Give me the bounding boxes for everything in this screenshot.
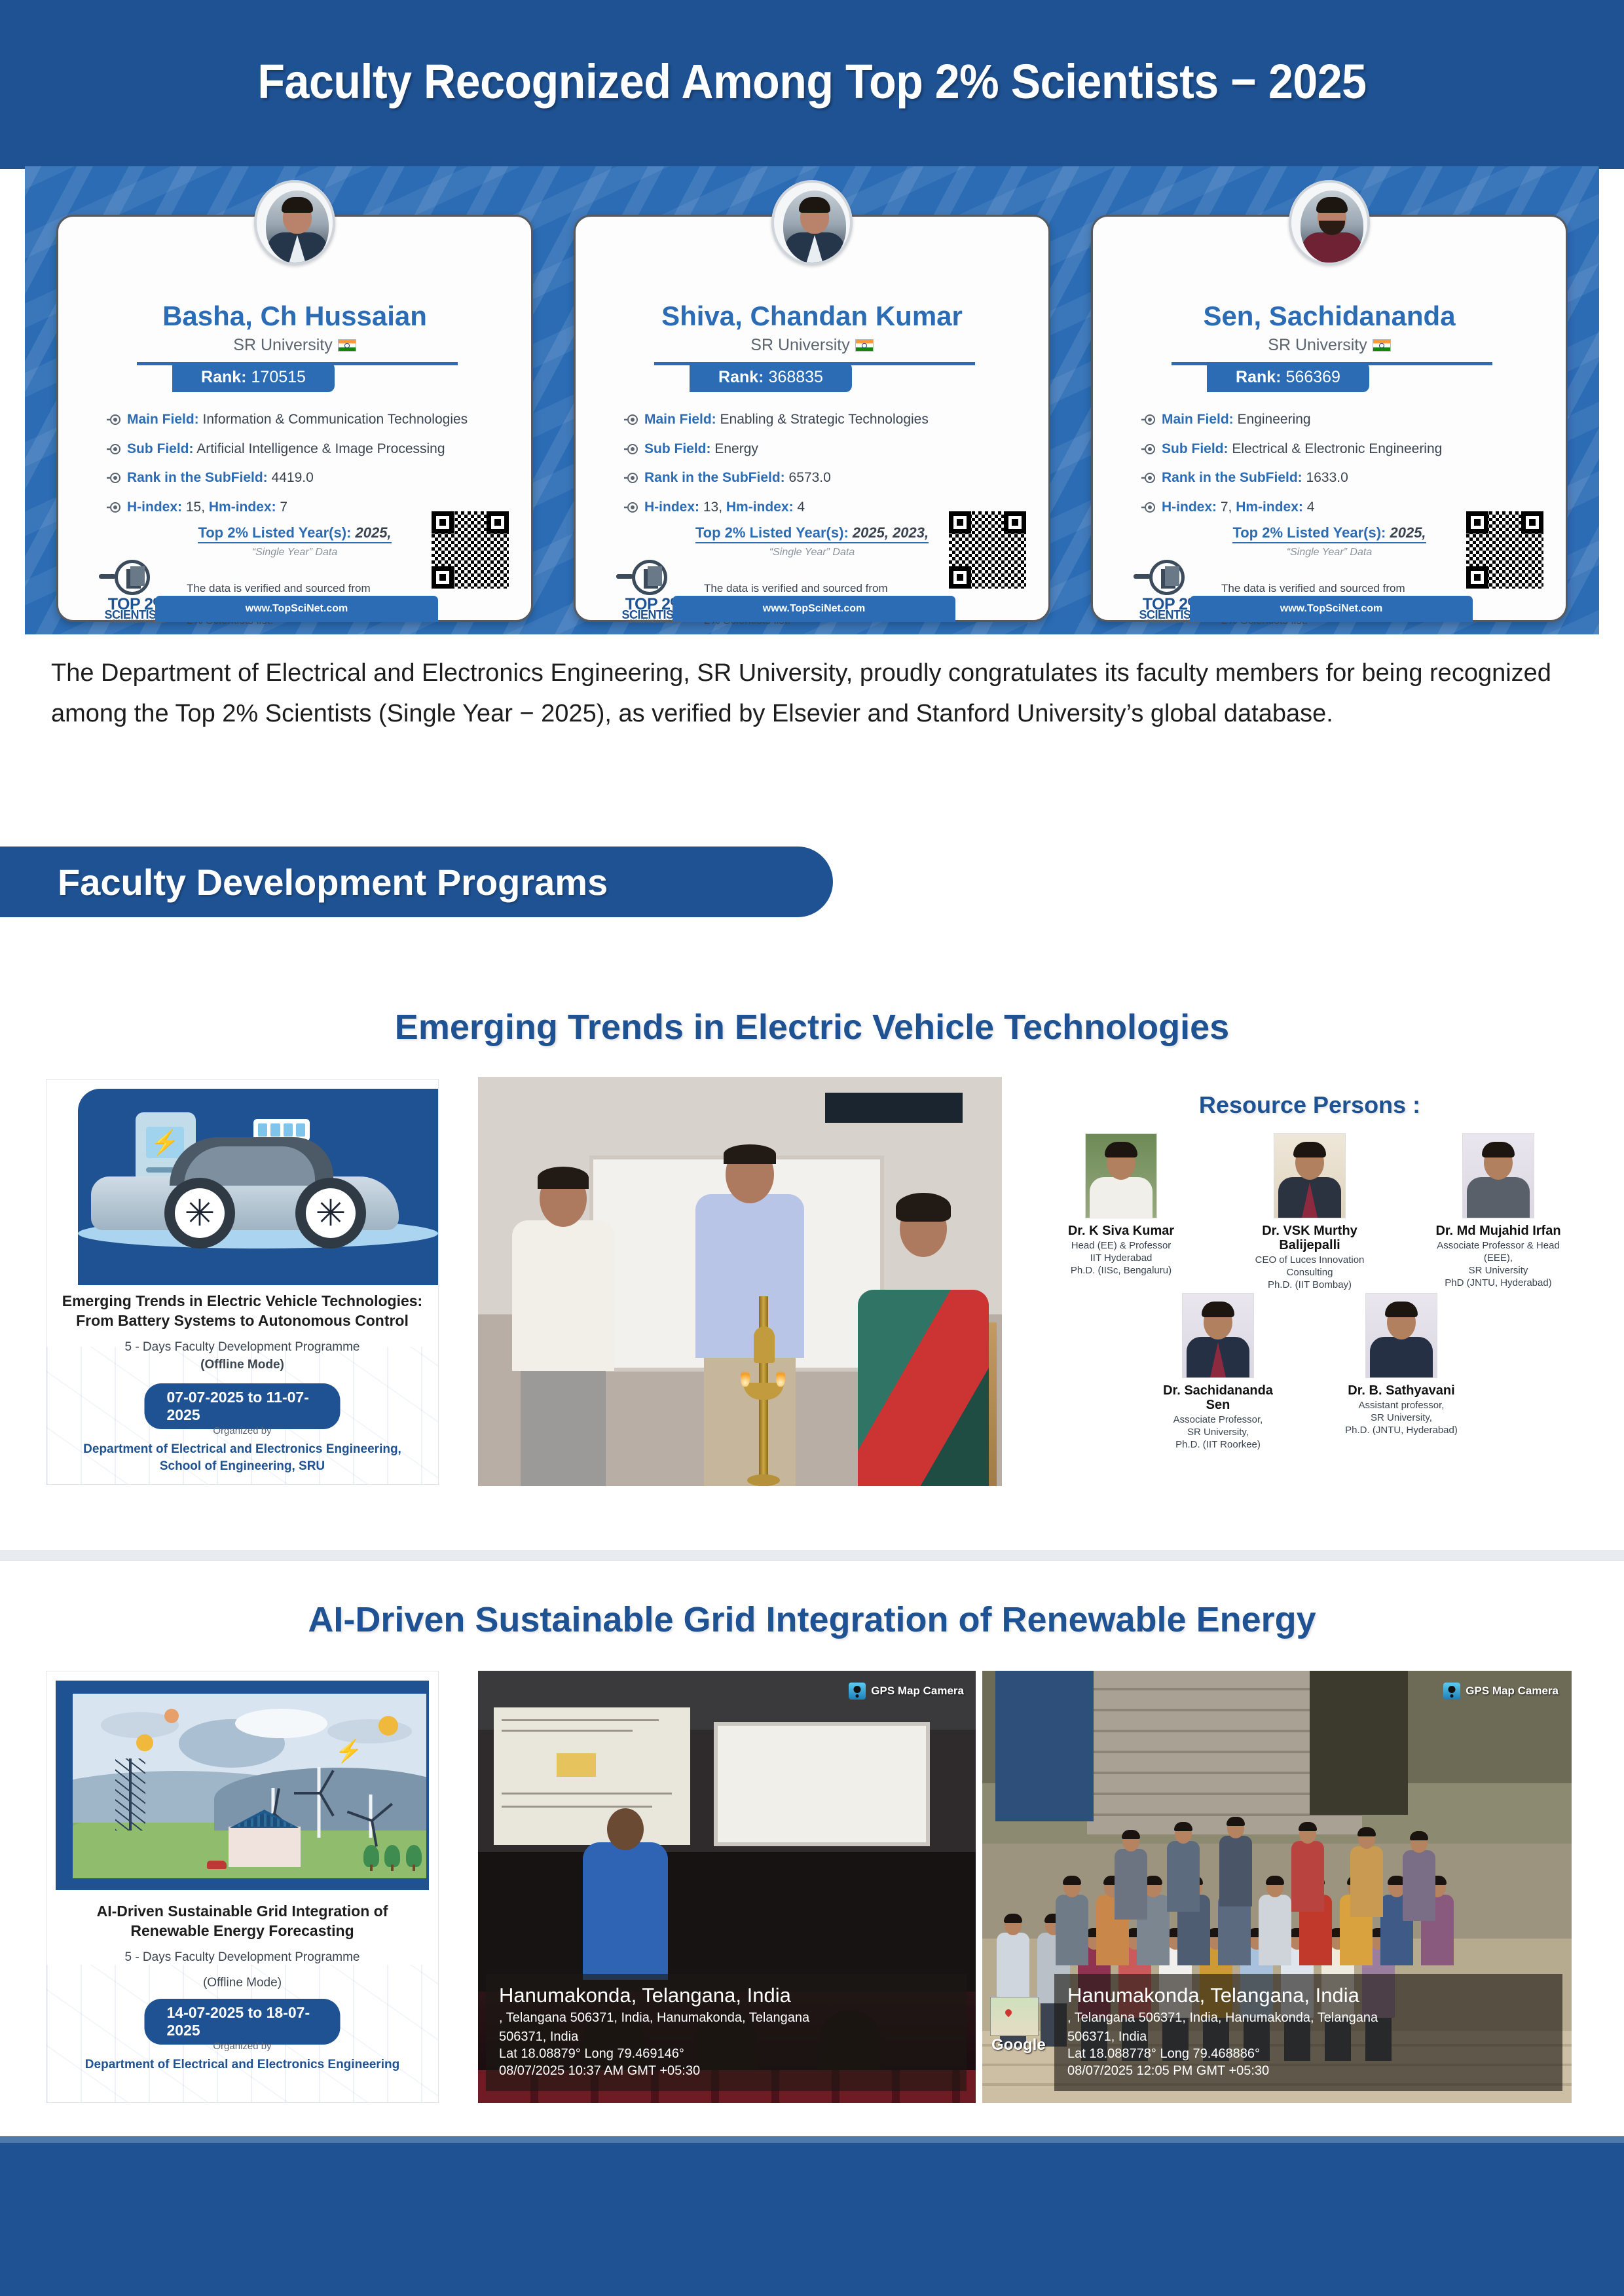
hmindex-value: 7 [280, 500, 287, 515]
resource-person-name: Dr. K Siva Kumar [1052, 1224, 1190, 1238]
poster-page: Faculty Recognized Among Top 2% Scientis… [0, 0, 1624, 2296]
gps-city: Hanumakonda, Telangana, India [499, 1984, 953, 2007]
resource-person-card: Dr. VSK Murthy Balijepalli CEO of Luces … [1241, 1133, 1378, 1292]
main-field-value: Information & Communication Technologies [203, 412, 468, 427]
subfield-rank-value: 4419.0 [272, 470, 314, 485]
subfield-rank-value: 6573.0 [789, 470, 831, 485]
rank-label: Rank: [201, 368, 246, 387]
gps-app-badge: GPS Map Camera [1443, 1683, 1559, 1700]
resource-person-name: Dr. B. Sathyavani [1333, 1383, 1470, 1398]
gps-map-camera-icon [1443, 1683, 1460, 1700]
resource-person-affiliation: SR University [1430, 1265, 1567, 1277]
gps-coordinates: Lat 18.08879° Long 79.469146° [499, 2045, 953, 2062]
scientist-university: SR University [58, 336, 531, 355]
certificate-website[interactable]: www.TopSciNet.com [155, 596, 438, 622]
subfield-rank-value: 1633.0 [1306, 470, 1348, 485]
scientist-name: Shiva, Chandan Kumar [576, 301, 1048, 332]
resource-person-card: Dr. B. Sathyavani Assistant professor, S… [1333, 1293, 1470, 1451]
field-row-sub: Sub Field: Artificial Intelligence & Ima… [107, 441, 500, 457]
poster-duration: 5 - Days Faculty Development Programme [57, 1339, 428, 1357]
organizer-line1: Department of Electrical and Electronics… [57, 1441, 428, 1458]
ceremonial-lamp-icon [743, 1270, 783, 1486]
resource-person-photo [1365, 1293, 1437, 1378]
gps-overlay-panel: Hanumakonda, Telangana, India , Telangan… [1054, 1974, 1562, 2091]
verify-pre: The data is verified and sourced from [187, 582, 371, 594]
listed-years-value: 2025, [1390, 524, 1426, 541]
poster-dates-badge: 07-07-2025 to 11-07-2025 [145, 1383, 341, 1429]
poster-mode: (Offline Mode) [57, 1975, 428, 1992]
section-divider [0, 1550, 1624, 1561]
google-watermark: Google [991, 2036, 1046, 2054]
renewable-energy-illustration: ⚡ [73, 1694, 426, 1878]
india-flag-icon [338, 339, 356, 352]
program-2-session-photo: GPS Map Camera Hanumakonda, Telangana, I… [478, 1671, 976, 2103]
hindex-label: H-index: [127, 500, 182, 515]
hmindex-value: 4 [1307, 500, 1315, 515]
sub-field-value: Energy [714, 441, 758, 456]
resource-person-role: CEO of Luces Innovation Consulting [1241, 1254, 1378, 1279]
certificate-card[interactable]: Sen, Sachidananda SR University Rank: 56… [1091, 215, 1568, 622]
poster-title-line1: Emerging Trends in Electric Vehicle Tech… [57, 1292, 428, 1311]
resource-person-affiliation: SR University, [1149, 1427, 1287, 1439]
poster-title: Emerging Trends in Electric Vehicle Tech… [57, 1292, 428, 1331]
hindex-value: 15, [186, 500, 205, 515]
certificate-row: Basha, Ch Hussaian SR University Rank: 1… [25, 166, 1599, 634]
avatar [771, 180, 853, 265]
resource-person-role: Associate Professor & Head (EEE), [1430, 1240, 1567, 1265]
sub-field-label: Sub Field: [644, 441, 711, 456]
photo-person [504, 1159, 622, 1486]
poster-subtitle: 5 - Days Faculty Development Programme (… [57, 1339, 428, 1374]
main-field-value: Enabling & Strategic Technologies [720, 412, 929, 427]
target-bullet-icon [1141, 471, 1156, 485]
resource-persons-row-1: Dr. K Siva Kumar Head (EE) & Professor I… [1022, 1133, 1598, 1292]
field-row-main: Main Field: Engineering [1141, 412, 1534, 428]
ev-hero-illustration [78, 1089, 438, 1285]
resource-person-affiliation: IIT Hyderabad [1052, 1252, 1190, 1265]
avatar [1289, 180, 1370, 265]
poster-organized-by-label: Organized by [57, 2041, 428, 2052]
qr-code[interactable] [949, 511, 1026, 589]
university-label: SR University [1268, 336, 1367, 354]
poster-organizer: Department of Electrical and Electronics… [57, 1441, 428, 1474]
resource-person-card: Dr. Sachidananda Sen Associate Professor… [1149, 1293, 1287, 1451]
map-thumbnail[interactable] [990, 1997, 1039, 2036]
organizer-line1: Department of Electrical and Electronics… [57, 2056, 428, 2073]
field-row-sub: Sub Field: Electrical & Electronic Engin… [1141, 441, 1534, 457]
program-2-poster: ⚡ AI-Driven Sustainable Grid Integration… [46, 1671, 439, 2103]
rank-badge: Rank: 566369 [1207, 362, 1369, 392]
resource-person-degree: Ph.D. (IIT Roorkee) [1149, 1439, 1287, 1451]
university-label: SR University [233, 336, 332, 354]
target-bullet-icon [624, 442, 638, 456]
subfield-rank-label: Rank in the SubField: [127, 470, 268, 485]
gps-address-line-2: 506371, India [499, 2028, 953, 2045]
rank-value: 170515 [251, 368, 306, 387]
qr-code[interactable] [1466, 511, 1543, 589]
certificate-website[interactable]: www.TopSciNet.com [673, 596, 955, 622]
program-2-group-photo: Google GPS Map Camera Hanumakonda, Telan… [982, 1671, 1572, 2103]
rank-label: Rank: [1236, 368, 1281, 387]
hindex-label: H-index: [1162, 500, 1217, 515]
gps-coordinates: Lat 18.088778° Long 79.468886° [1067, 2045, 1549, 2062]
resource-person-degree: Ph.D. (IISc, Bengaluru) [1052, 1265, 1190, 1277]
poster-title-line1: AI-Driven Sustainable Grid Integration o… [57, 1902, 428, 1922]
sub-field-label: Sub Field: [127, 441, 194, 456]
target-bullet-icon [1141, 412, 1156, 427]
resource-person-photo [1085, 1133, 1157, 1218]
poster-title-line2: From Battery Systems to Autonomous Contr… [57, 1311, 428, 1331]
fdp-section-banner: Faculty Development Programs [0, 847, 833, 917]
certificate-card[interactable]: Shiva, Chandan Kumar SR University Rank:… [574, 215, 1050, 622]
certificates-strip: Basha, Ch Hussaian SR University Rank: 1… [25, 166, 1599, 634]
organizer-line2: School of Engineering, SRU [57, 1458, 428, 1475]
resource-person-photo [1274, 1133, 1346, 1218]
rank-badge: Rank: 368835 [690, 362, 852, 392]
poster-organized-by-label: Organized by [57, 1425, 428, 1436]
certificate-card[interactable]: Basha, Ch Hussaian SR University Rank: 1… [56, 215, 533, 622]
page-title: Faculty Recognized Among Top 2% Scientis… [65, 54, 1559, 109]
program-2-title: AI-Driven Sustainable Grid Integration o… [0, 1599, 1624, 1640]
rank-value: 368835 [769, 368, 823, 387]
resource-person-card: Dr. K Siva Kumar Head (EE) & Professor I… [1052, 1133, 1190, 1292]
resource-person-name: Dr. Sachidananda Sen [1149, 1383, 1287, 1412]
qr-code[interactable] [432, 511, 509, 589]
sun-icon [136, 1734, 153, 1751]
program-1-event-photo [478, 1077, 1002, 1486]
resource-person-affiliation: SR University, [1333, 1412, 1470, 1425]
scientist-university: SR University [1093, 336, 1566, 355]
target-bullet-icon [624, 500, 638, 515]
resource-person-photo [1182, 1293, 1254, 1378]
gps-timestamp: 08/07/2025 10:37 AM GMT +05:30 [499, 2062, 953, 2079]
poster-dates-badge: 14-07-2025 to 18-07-2025 [145, 1999, 341, 2045]
main-field-value: Engineering [1238, 412, 1311, 427]
listed-years-label: Top 2% Listed Year(s): [198, 524, 351, 541]
fdp-banner-label: Faculty Development Programs [58, 861, 608, 903]
gps-address-line-2: 506371, India [1067, 2028, 1549, 2045]
electric-car-icon [91, 1136, 399, 1254]
listed-years-label: Top 2% Listed Year(s): [695, 524, 849, 541]
resource-person-photo [1462, 1133, 1534, 1218]
main-field-label: Main Field: [127, 412, 199, 427]
listed-years-value: 2025, [355, 524, 391, 541]
india-flag-icon [1373, 339, 1391, 352]
avatar [254, 180, 335, 265]
transmission-tower-icon [115, 1758, 145, 1831]
india-flag-icon [855, 339, 874, 352]
poster-organizer: Department of Electrical and Electronics… [57, 2056, 428, 2073]
resource-person-degree: PhD (JNTU, Hyderabad) [1430, 1277, 1567, 1290]
gps-overlay-panel: Hanumakonda, Telangana, India , Telangan… [486, 1974, 967, 2091]
verify-pre: The data is verified and sourced from [1221, 582, 1405, 594]
hmindex-label: Hm-index: [726, 500, 794, 515]
target-bullet-icon [107, 442, 121, 456]
scientist-name: Basha, Ch Hussaian [58, 301, 531, 332]
hindex-value: 13, [703, 500, 722, 515]
gps-city: Hanumakonda, Telangana, India [1067, 1984, 1549, 2007]
gps-app-label: GPS Map Camera [1466, 1685, 1559, 1698]
poster-mode: (Offline Mode) [200, 1358, 284, 1372]
rank-label: Rank: [718, 368, 764, 387]
poster-subtitle: 5 - Days Faculty Development Programme (… [57, 1949, 428, 1992]
main-field-label: Main Field: [644, 412, 716, 427]
page-header: Faculty Recognized Among Top 2% Scientis… [0, 0, 1624, 169]
program-1-title: Emerging Trends in Electric Vehicle Tech… [0, 1007, 1624, 1048]
field-row-sub: Sub Field: Energy [624, 441, 1017, 457]
gps-app-badge: GPS Map Camera [849, 1683, 964, 1700]
poster-title: AI-Driven Sustainable Grid Integration o… [57, 1902, 428, 1941]
resource-person-degree: Ph.D. (IIT Bombay) [1241, 1279, 1378, 1292]
target-bullet-icon [1141, 500, 1156, 515]
sub-field-label: Sub Field: [1162, 441, 1228, 456]
hmindex-label: Hm-index: [1236, 500, 1303, 515]
hindex-label: H-index: [644, 500, 699, 515]
hindex-value: 7, [1221, 500, 1232, 515]
program-1-poster: Emerging Trends in Electric Vehicle Tech… [46, 1079, 439, 1485]
photo-person [845, 1178, 1002, 1486]
field-row-subrank: Rank in the SubField: 4419.0 [107, 470, 500, 486]
gps-map-camera-icon [849, 1683, 866, 1700]
verify-pre: The data is verified and sourced from [704, 582, 888, 594]
target-bullet-icon [624, 471, 638, 485]
sun-icon [164, 1709, 179, 1723]
sub-field-value: Electrical & Electronic Engineering [1232, 441, 1442, 456]
resource-person-role: Assistant professor, [1333, 1400, 1470, 1412]
certificate-website[interactable]: www.TopSciNet.com [1190, 596, 1473, 622]
sub-field-value: Artificial Intelligence & Image Processi… [196, 441, 445, 456]
subfield-rank-label: Rank in the SubField: [644, 470, 785, 485]
resource-persons-panel: Resource Persons : Dr. K Siva Kumar Head… [1022, 1077, 1598, 1486]
solar-house-icon [229, 1827, 301, 1867]
subfield-rank-label: Rank in the SubField: [1162, 470, 1302, 485]
target-bullet-icon [107, 412, 121, 427]
hmindex-value: 4 [797, 500, 805, 515]
field-row-main: Main Field: Enabling & Strategic Technol… [624, 412, 1017, 428]
target-bullet-icon [624, 412, 638, 427]
university-label: SR University [750, 336, 849, 354]
sun-icon [378, 1716, 398, 1736]
resource-person-role: Associate Professor, [1149, 1414, 1287, 1427]
poster-title-line2: Renewable Energy Forecasting [57, 1922, 428, 1941]
gps-app-label: GPS Map Camera [871, 1685, 964, 1698]
lightning-bolt-icon: ⚡ [335, 1738, 362, 1764]
scientist-university: SR University [576, 336, 1048, 355]
rank-badge: Rank: 170515 [172, 362, 335, 392]
field-row-main: Main Field: Information & Communication … [107, 412, 500, 428]
resource-person-card: Dr. Md Mujahid Irfan Associate Professor… [1430, 1133, 1567, 1292]
scientist-name: Sen, Sachidananda [1093, 301, 1566, 332]
resource-person-name: Dr. VSK Murthy Balijepalli [1241, 1224, 1378, 1252]
target-bullet-icon [107, 471, 121, 485]
listed-years-label: Top 2% Listed Year(s): [1232, 524, 1386, 541]
field-row-subrank: Rank in the SubField: 1633.0 [1141, 470, 1534, 486]
resource-person-role: Head (EE) & Professor [1052, 1240, 1190, 1252]
main-field-label: Main Field: [1162, 412, 1234, 427]
wind-turbine-icon [356, 1795, 386, 1838]
page-footer [0, 2136, 1624, 2296]
poster-duration: 5 - Days Faculty Development Programme [57, 1949, 428, 1967]
hmindex-label: Hm-index: [209, 500, 276, 515]
resource-person-name: Dr. Md Mujahid Irfan [1430, 1224, 1567, 1238]
target-bullet-icon [1141, 442, 1156, 456]
wind-turbine-icon [299, 1767, 339, 1838]
field-row-subrank: Rank in the SubField: 6573.0 [624, 470, 1017, 486]
gps-address-line-1: , Telangana 506371, India, Hanumakonda, … [1067, 2009, 1549, 2026]
resource-persons-title: Resource Persons : [1022, 1091, 1598, 1119]
resource-persons-row-2: Dr. Sachidananda Sen Associate Professor… [1022, 1293, 1598, 1451]
gps-address-line-1: , Telangana 506371, India, Hanumakonda, … [499, 2009, 953, 2026]
intro-paragraph: The Department of Electrical and Electro… [51, 653, 1570, 734]
rank-value: 566369 [1286, 368, 1340, 387]
gps-timestamp: 08/07/2025 12:05 PM GMT +05:30 [1067, 2062, 1549, 2079]
listed-years-value: 2025, 2023, [853, 524, 929, 541]
resource-person-degree: Ph.D. (JNTU, Hyderabad) [1333, 1425, 1470, 1437]
target-bullet-icon [107, 500, 121, 515]
